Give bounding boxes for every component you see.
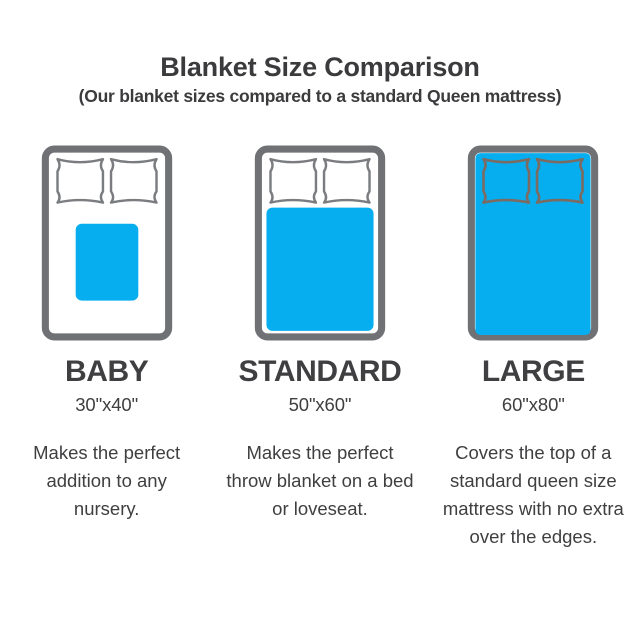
comparison-column-baby: BABY 30"x40" Makes the perfect addition … <box>0 145 213 523</box>
blanket-rect-icon <box>75 224 138 301</box>
heading-block: Blanket Size Comparison (Our blanket siz… <box>0 52 640 106</box>
comparison-column-standard: STANDARD 50"x60" Makes the perfect throw… <box>213 145 426 523</box>
size-description-baby: Makes the perfect addition to any nurser… <box>12 439 202 523</box>
pillow-left-icon <box>270 159 315 202</box>
bed-top-view-icon <box>467 145 599 341</box>
size-description-large: Covers the top of a standard queen size … <box>438 439 628 551</box>
pillow-right-icon <box>111 159 156 202</box>
size-dimensions-baby: 30"x40" <box>75 396 138 415</box>
blanket-size-comparison-infographic: Blanket Size Comparison (Our blanket siz… <box>0 0 640 640</box>
size-name-standard: STANDARD <box>239 357 402 387</box>
pillow-left-icon <box>57 159 102 202</box>
page-subtitle: (Our blanket sizes compared to a standar… <box>0 86 640 106</box>
pillow-right-icon <box>324 159 369 202</box>
bed-illustration-standard <box>254 145 386 341</box>
bed-top-view-icon <box>41 145 173 341</box>
size-dimensions-large: 60"x80" <box>502 396 565 415</box>
bed-illustration-large <box>467 145 599 341</box>
bed-illustration-baby <box>41 145 173 341</box>
size-description-standard: Makes the perfect throw blanket on a bed… <box>225 439 415 523</box>
size-dimensions-standard: 50"x60" <box>289 396 352 415</box>
blanket-rect-icon <box>266 208 373 331</box>
size-name-baby: BABY <box>65 357 148 387</box>
bed-top-view-icon <box>254 145 386 341</box>
comparison-columns: BABY 30"x40" Makes the perfect addition … <box>0 145 640 551</box>
comparison-column-large: LARGE 60"x80" Covers the top of a standa… <box>427 145 640 551</box>
blanket-rect-icon <box>476 153 591 335</box>
size-name-large: LARGE <box>482 357 585 387</box>
page-title: Blanket Size Comparison <box>0 52 640 82</box>
